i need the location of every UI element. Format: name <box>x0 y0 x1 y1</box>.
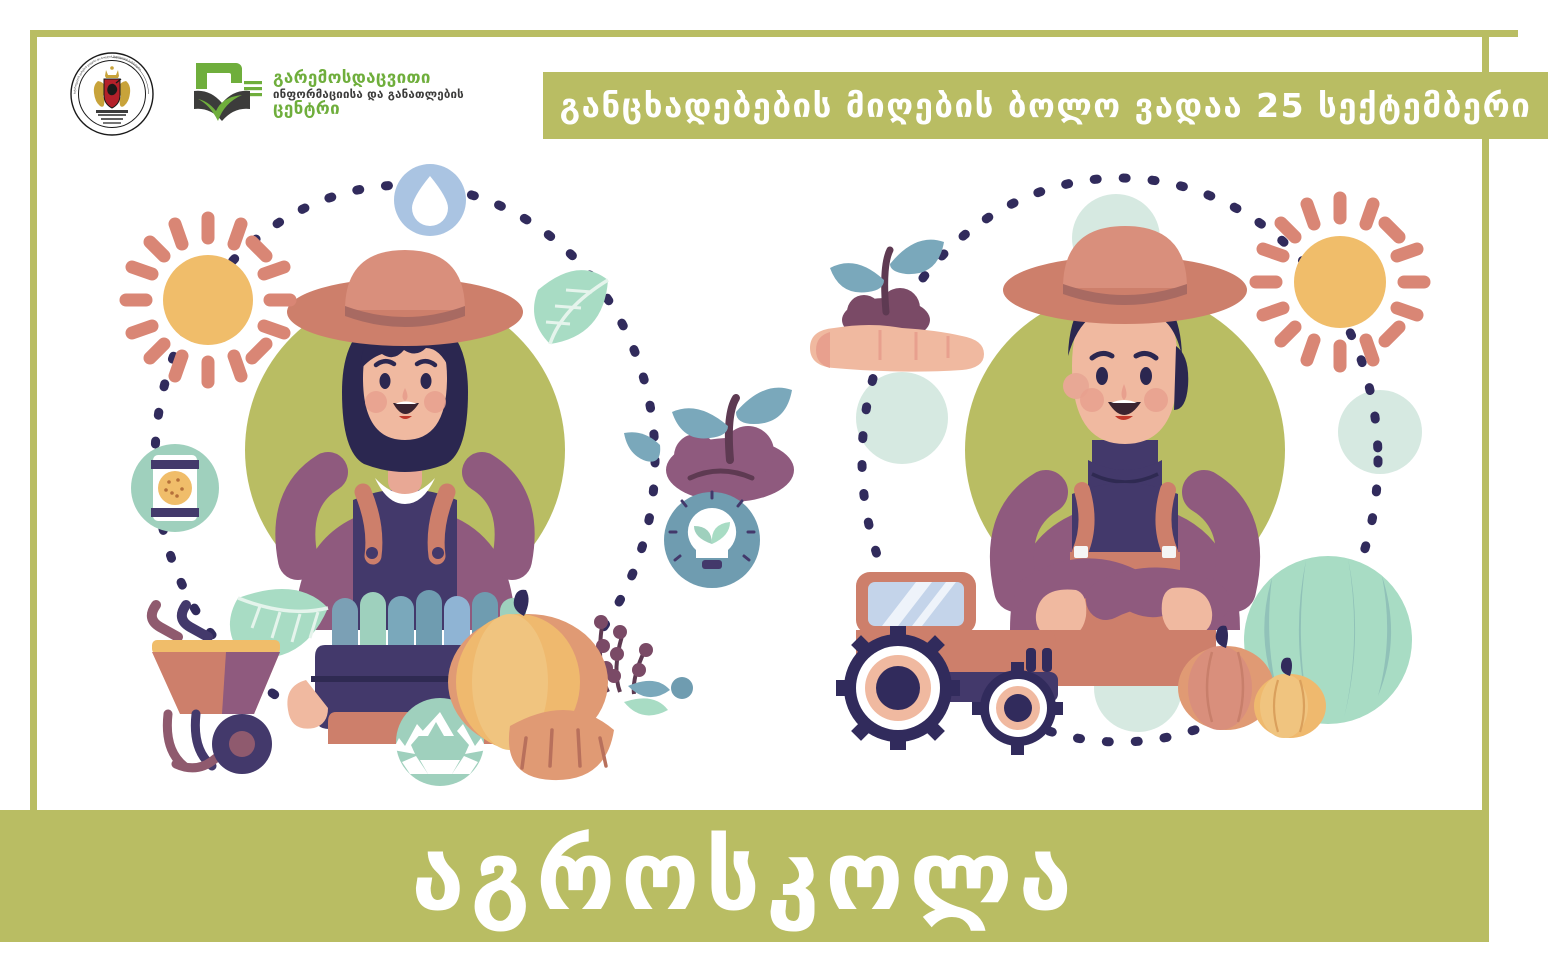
open-book-leaf-logo <box>192 61 264 127</box>
sun-icon-right <box>1256 198 1424 366</box>
eye-left <box>380 373 391 389</box>
eye-right <box>1140 367 1152 385</box>
deadline-banner-text: განცხადებების მიღების ბოლო ვადაა 25 სექტ… <box>560 86 1532 125</box>
tractor-rear-wheel <box>836 626 960 750</box>
deadline-banner: განცხადებების მიღების ბოლო ვადაა 25 სექტ… <box>543 72 1548 139</box>
jam-jar-icon <box>131 444 219 532</box>
eiec-logo-line1: გარემოსდაცვითი <box>273 69 464 87</box>
eiec-logo: გარემოსდაცვითი ინფორმაციისა და განათლები… <box>192 61 464 127</box>
eye-left <box>1096 367 1108 385</box>
right-illustration <box>820 160 1520 780</box>
mint-circle-decor-left <box>856 372 948 464</box>
logo-row: საქართველოს გარემოს დაცვისა და სოფლის მე… <box>70 52 464 136</box>
eye-right <box>421 373 432 389</box>
frame-top-line <box>30 30 1518 37</box>
georgia-coat-of-arms-seal: საქართველოს გარემოს დაცვისა და სოფლის მე… <box>70 52 154 136</box>
frame-left-line <box>30 30 37 910</box>
hand-holding-seedling-icon <box>810 240 984 372</box>
poster-title: აგროსკოლა <box>411 828 1077 924</box>
poster-canvas: საქართველოს გარემოს დაცვისა და სოფლის მე… <box>0 0 1548 973</box>
sun-icon-left <box>126 218 290 382</box>
eiec-logo-line3: ცენტრი <box>273 100 464 118</box>
lightbulb-leaf-icon <box>664 492 760 588</box>
leaf-icon-upper <box>534 270 608 344</box>
water-drop-icon <box>394 164 466 236</box>
footer-band: აგროსკოლა <box>0 810 1489 942</box>
left-illustration <box>120 160 820 780</box>
